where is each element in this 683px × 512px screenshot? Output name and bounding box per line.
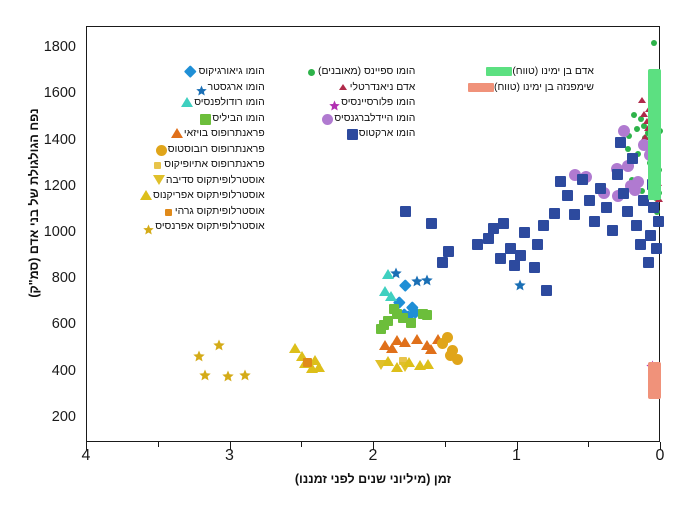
data-point <box>648 202 659 213</box>
data-point <box>488 223 499 234</box>
data-point <box>627 153 638 164</box>
data-point <box>631 220 642 231</box>
data-point <box>495 253 506 264</box>
legend-item-label: אוסטרלופיתקוס אפריקנוס <box>153 190 265 201</box>
legend-item[interactable]: אדם ניאנדרטלי <box>305 80 420 96</box>
legend-range-bar <box>468 83 494 92</box>
y-tick-label: 200 <box>30 409 76 425</box>
legend-item-label: הומו רודולפנסיס <box>194 97 265 108</box>
y-tick-label: 1000 <box>30 224 76 240</box>
legend-swatch-triangle-down-icon <box>153 174 166 187</box>
legend-item[interactable]: אוסטרלופיתקוס אפריקנוס <box>140 188 270 204</box>
data-point <box>577 174 588 185</box>
range-bar <box>648 362 661 399</box>
legend-column-species-early: הומו גיאורגיקוסהומו ארגסטרהומו רודולפנסי… <box>140 64 270 235</box>
y-tick-label: 600 <box>30 316 76 332</box>
y-tick-label: 1200 <box>30 178 76 194</box>
legend-item[interactable]: אוסטרלופיתקוס גרהי <box>140 204 270 220</box>
data-point <box>645 230 656 241</box>
legend-item[interactable]: הומו הביליס <box>140 111 270 127</box>
legend-marker <box>140 190 152 200</box>
y-tick-label: 1400 <box>30 132 76 148</box>
legend-marker <box>322 114 333 125</box>
data-point <box>529 262 540 273</box>
legend-item-label: אוסטרלופיתקוס אפרנסיס <box>155 221 264 232</box>
x-tick-minor <box>301 442 302 447</box>
data-point <box>569 209 580 220</box>
legend-item-label: הומו פלורסיינסיס <box>341 97 415 108</box>
data-point <box>562 190 573 201</box>
data-point <box>612 169 623 180</box>
legend-swatch-diamond-icon <box>186 65 199 78</box>
y-tick-label: 800 <box>30 270 76 286</box>
data-point <box>555 176 566 187</box>
legend-swatch-triangle-icon <box>140 189 153 202</box>
legend-item[interactable]: הומו היידלברגנסיס <box>305 111 420 127</box>
data-point <box>584 195 595 206</box>
data-point <box>615 137 626 148</box>
data-point <box>622 206 633 217</box>
x-tick-minor <box>588 442 589 447</box>
legend-item-label: הומו הביליס <box>212 113 264 124</box>
x-tick-mark <box>660 442 661 450</box>
legend-item-label: שימפנזה בן ימינו (טווח) <box>494 82 594 93</box>
legend-swatch-star-icon <box>142 220 155 233</box>
legend-swatch-square-icon <box>199 112 212 125</box>
x-tick-minor <box>445 442 446 447</box>
data-point <box>607 225 618 236</box>
legend-marker <box>153 175 165 185</box>
legend-marker <box>171 128 183 138</box>
legend-marker <box>143 222 154 233</box>
data-point <box>519 227 530 238</box>
legend-item[interactable]: הומו ארגסטר <box>140 80 270 96</box>
legend-swatch-circle-icon <box>321 112 334 125</box>
data-point <box>483 233 494 244</box>
data-point <box>443 246 454 257</box>
y-axis-title: נפח הגולגולת של בני אדם (סמ"ק) <box>27 73 41 333</box>
legend-swatch-star-icon <box>195 81 208 94</box>
legend-swatch-triangle-icon <box>171 127 184 140</box>
legend-item[interactable]: הומו פלורסיינסיס <box>305 95 420 111</box>
data-point <box>549 208 560 219</box>
legend-swatch-square-small-icon <box>151 158 164 171</box>
legend-item[interactable]: אוסטרלופיתקוס סדיבה <box>140 173 270 189</box>
data-point <box>653 216 664 227</box>
chart-root: אבולוציה של גודל המוח בהומינידים נפח הגו… <box>0 0 683 512</box>
legend-item-label: פראנתרופוס אתיופיקוס <box>164 159 264 170</box>
legend-marker <box>181 97 193 107</box>
data-point <box>509 260 520 271</box>
data-point <box>532 239 543 250</box>
x-tick-mark <box>230 442 231 450</box>
legend-item-label: אדם ניאנדרטלי <box>350 82 416 93</box>
y-tick-label: 400 <box>30 363 76 379</box>
legend-marker <box>308 69 315 76</box>
legend-swatch-circle-icon <box>155 143 168 156</box>
data-point <box>538 220 549 231</box>
data-point <box>426 218 437 229</box>
legend-swatch-square-small-icon <box>162 205 175 218</box>
legend-item-label: אדם בן ימינו (טווח) <box>512 66 594 77</box>
legend-swatch-bar-icon <box>468 83 494 92</box>
data-point <box>601 202 612 213</box>
legend-item-label: פראנתרופוס בויזאי <box>184 128 265 139</box>
legend-item[interactable]: הומו גיאורגיקוס <box>140 64 270 80</box>
legend-marker <box>154 162 161 169</box>
data-point <box>498 218 509 229</box>
legend-marker <box>165 209 172 216</box>
legend-item[interactable]: פראנתרופוס בויזאי <box>140 126 270 142</box>
legend-item-label: אוסטרלופיתקוס סדיבה <box>166 175 265 186</box>
legend-marker <box>196 83 207 94</box>
x-tick-mark <box>373 442 374 450</box>
legend-item[interactable]: פראנתרופוס אתיופיקוס <box>140 157 270 173</box>
legend-item[interactable]: פראנתרופוס רובוסטוס <box>140 142 270 158</box>
x-tick-mark <box>517 442 518 450</box>
legend-marker <box>200 114 211 125</box>
legend-item[interactable]: אדם בן ימינו (טווח) <box>468 64 599 80</box>
x-tick-minor <box>158 442 159 447</box>
x-tick-mark <box>86 442 87 450</box>
legend-column-ranges: אדם בן ימינו (טווח)שימפנזה בן ימינו (טוו… <box>468 64 599 95</box>
legend-swatch-triangle-small-icon <box>337 81 350 94</box>
legend-column-species-late: הומו ספיינס (מאובנים)אדם ניאנדרטליהומו פ… <box>305 64 420 142</box>
legend-marker <box>184 65 196 77</box>
legend-item-label: אוסטרלופיתקוס גרהי <box>175 206 265 217</box>
legend-item[interactable]: הומו ארקטוס <box>305 126 420 142</box>
data-point <box>515 250 526 261</box>
legend-item-label: הומו ארקטוס <box>359 128 416 139</box>
legend-item-label: הומו ספיינס (מאובנים) <box>318 66 415 77</box>
legend-marker <box>329 98 340 109</box>
legend-item-label: הומו היידלברגנסיס <box>334 113 415 124</box>
data-point <box>618 188 629 199</box>
legend-marker <box>347 129 358 140</box>
legend-item-label: פראנתרופוס רובוסטוס <box>168 144 265 155</box>
legend-item[interactable]: אוסטרלופיתקוס אפרנסיס <box>140 219 270 235</box>
data-point <box>437 257 448 268</box>
x-axis-title: זמן (מיליוני שנים לפני זמננו) <box>86 472 660 486</box>
legend-item[interactable]: הומו רודולפנסיס <box>140 95 270 111</box>
legend-item[interactable]: הומו ספיינס (מאובנים) <box>305 64 420 80</box>
legend-swatch-star-icon <box>328 96 341 109</box>
legend-swatch-square-icon <box>346 127 359 140</box>
data-point <box>472 239 483 250</box>
range-bar <box>648 69 661 201</box>
y-tick-label: 1800 <box>30 39 76 55</box>
legend-range-bar <box>486 67 512 76</box>
data-point <box>400 206 411 217</box>
y-tick-label: 1600 <box>30 85 76 101</box>
data-point <box>651 243 662 254</box>
legend-swatch-bar-icon <box>486 67 512 76</box>
legend-item-label: הומו גיאורגיקוס <box>199 66 265 77</box>
legend-swatch-triangle-icon <box>181 96 194 109</box>
legend-item-label: הומו ארגסטר <box>208 82 265 93</box>
legend-marker <box>156 145 167 156</box>
data-point <box>595 183 606 194</box>
legend-item[interactable]: שימפנזה בן ימינו (טווח) <box>468 80 599 96</box>
data-point <box>589 216 600 227</box>
legend-swatch-circle-small-icon <box>305 65 318 78</box>
legend-marker <box>339 84 347 90</box>
data-point <box>643 257 654 268</box>
data-point <box>541 285 552 296</box>
